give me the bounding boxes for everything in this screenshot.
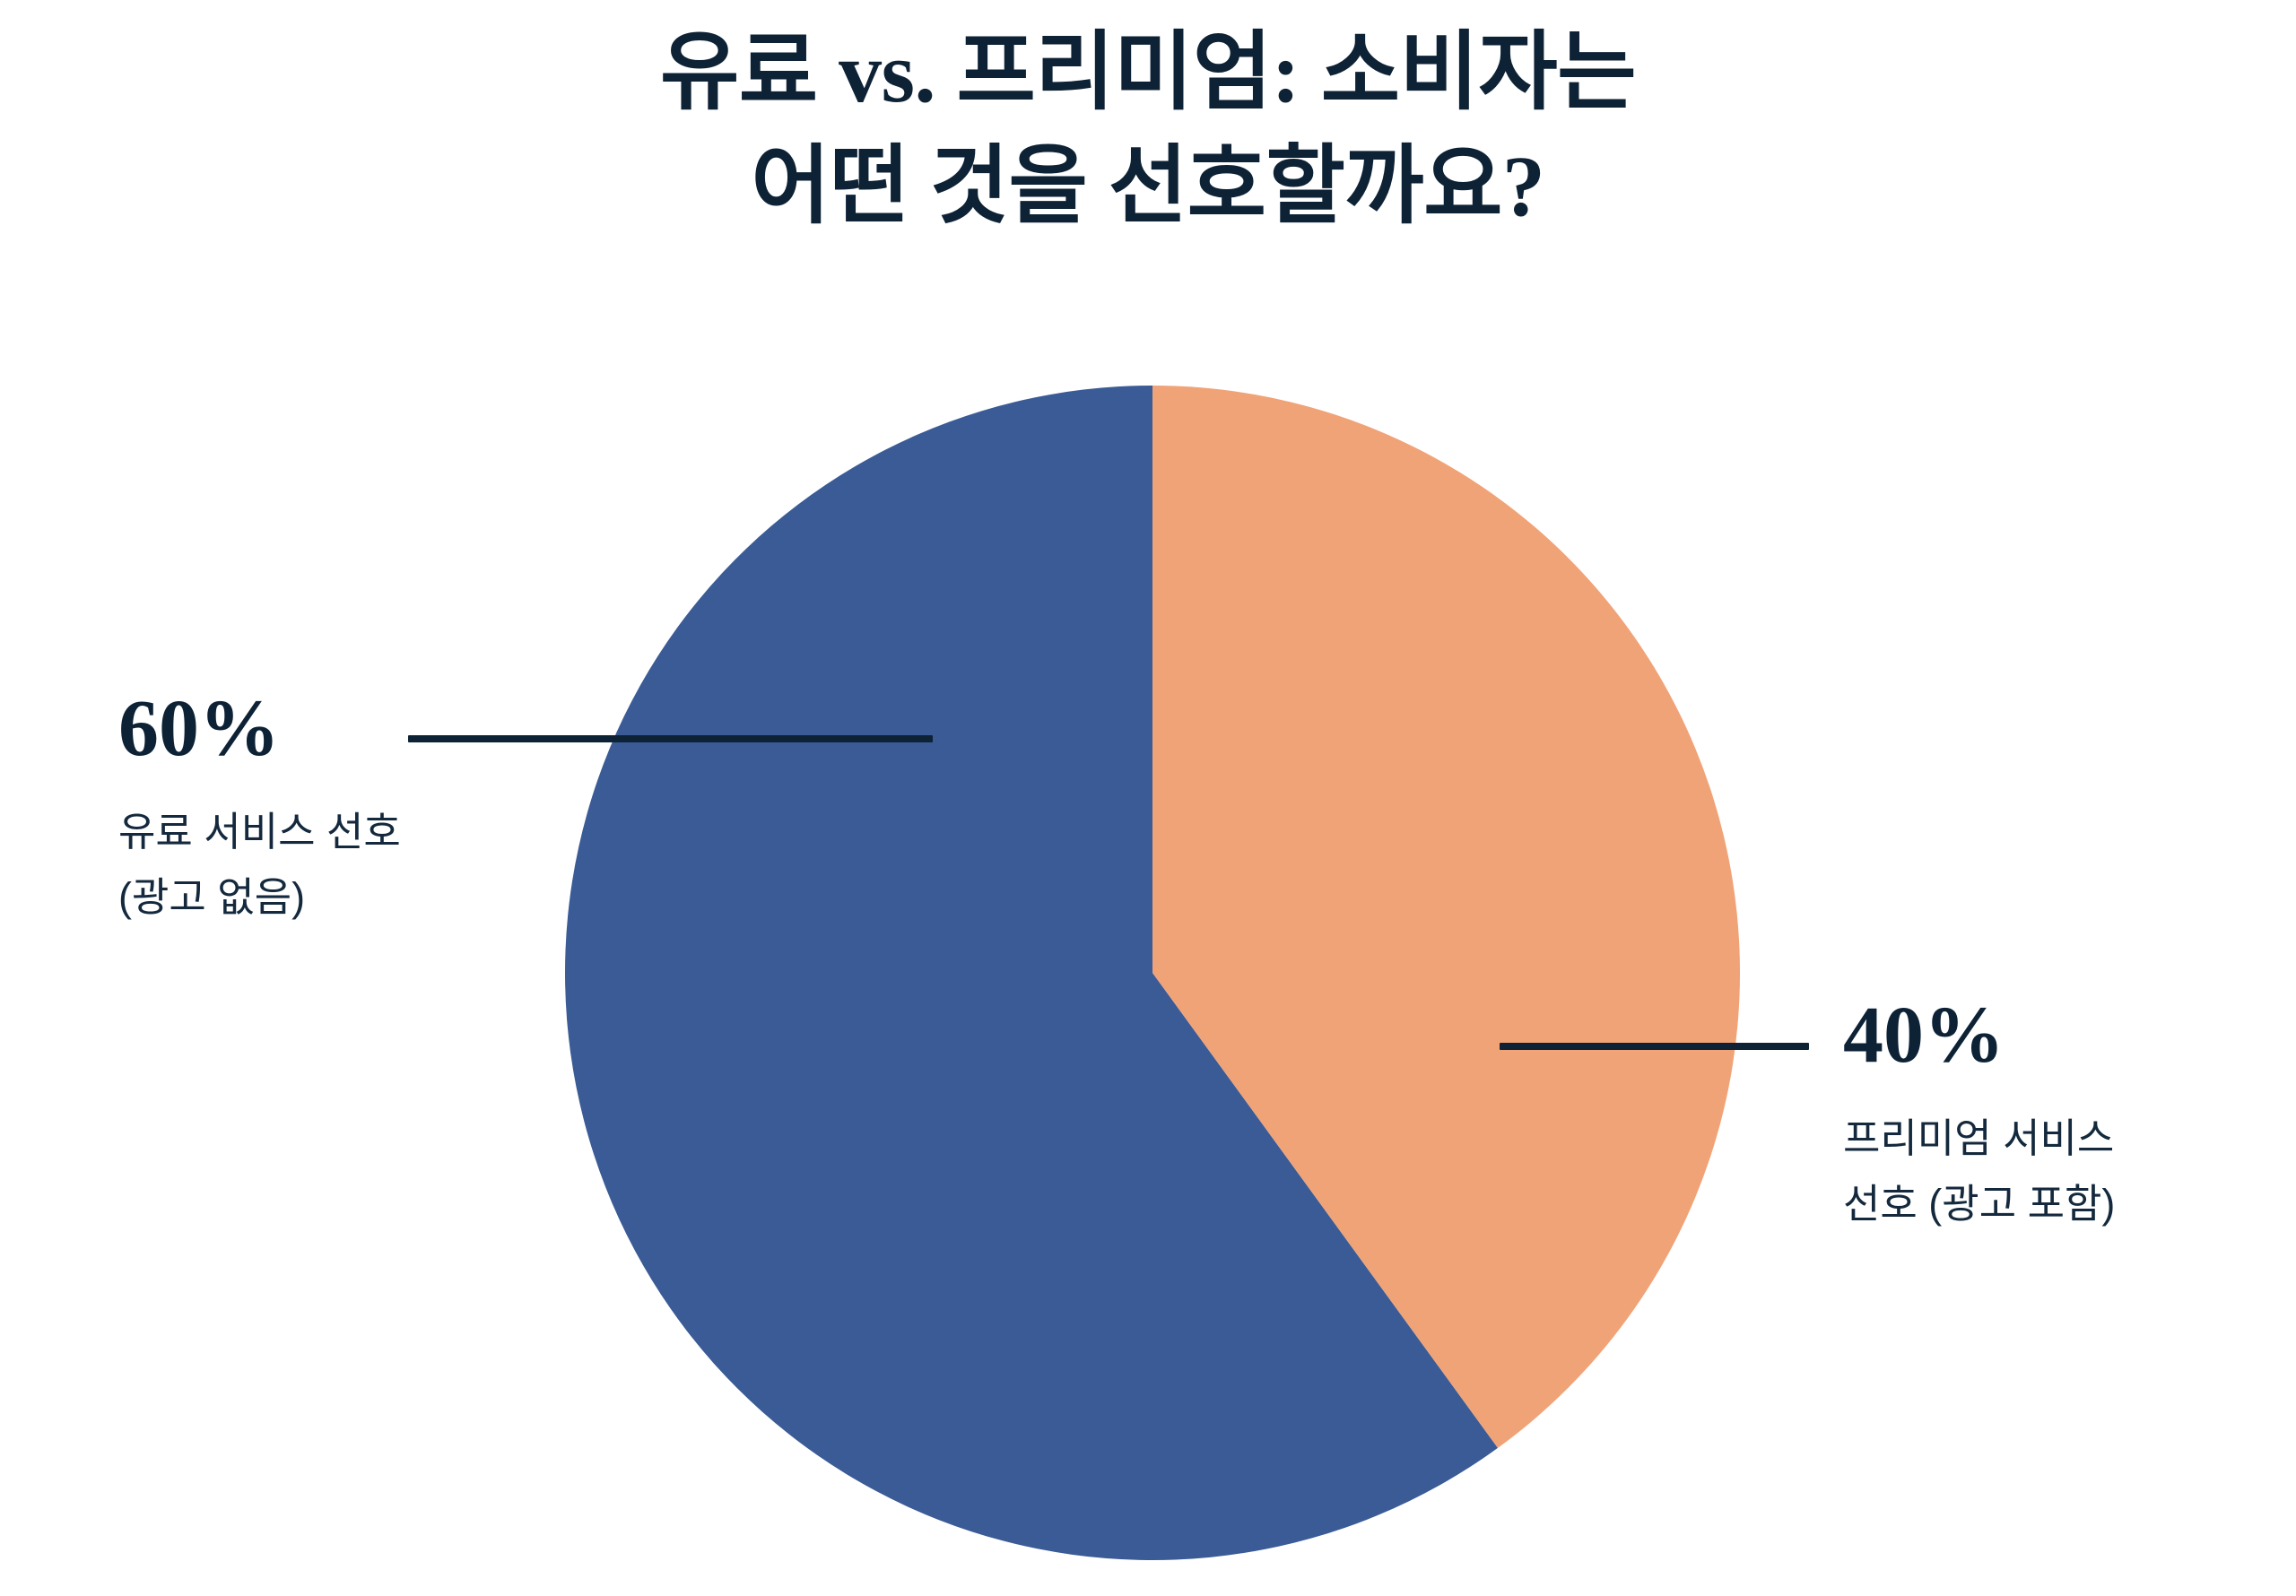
premium-percentage: 40% — [1843, 995, 2115, 1076]
leader-line-right — [1500, 1043, 1809, 1050]
paid-percentage: 60% — [118, 689, 401, 769]
pie-chart-svg — [565, 386, 1740, 1560]
callout-paid: 60% 유료 서비스 선호 (광고 없음) — [118, 689, 401, 931]
pie-chart — [565, 386, 1740, 1560]
premium-label: 프리미엄 서비스 선호 (광고 포함) — [1843, 1106, 2115, 1237]
leader-line-left — [408, 735, 933, 742]
paid-label: 유료 서비스 선호 (광고 없음) — [118, 800, 401, 931]
page-title: 유료 vs. 프리미엄: 소비자는 어떤 것을 선호할까요? — [0, 16, 2296, 243]
callout-premium: 40% 프리미엄 서비스 선호 (광고 포함) — [1843, 995, 2115, 1237]
